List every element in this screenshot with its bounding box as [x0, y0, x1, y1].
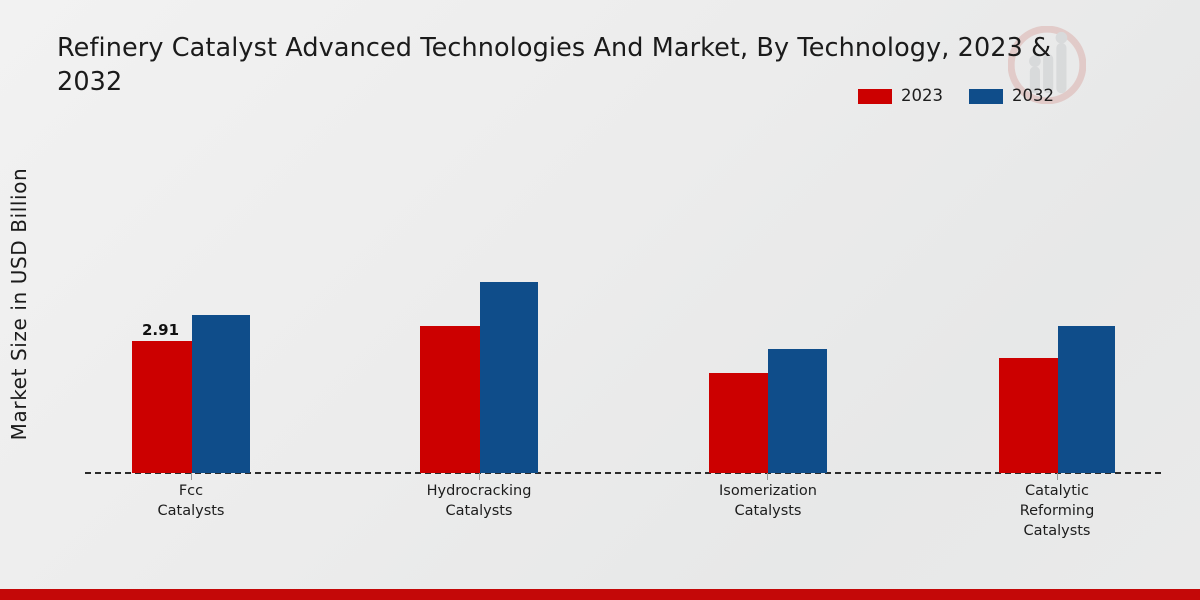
bar-hydrocracking-2032[interactable]: [480, 282, 538, 473]
bar-fcc-2023[interactable]: [132, 341, 192, 473]
bar-fcc-2032[interactable]: [192, 315, 250, 473]
x-label-hydrocracking-catalysts: Hydrocracking Catalysts: [379, 481, 579, 521]
x-label-catalytic-reforming-catalysts: Catalytic Reforming Catalysts: [957, 481, 1157, 541]
x-label-isomerization-catalysts: Isomerization Catalysts: [668, 481, 868, 521]
bar-catalytic-reforming-2032[interactable]: [1058, 326, 1115, 473]
plot-area: 2.91 Fcc Catalysts Hydrocracking Catalys…: [0, 0, 1200, 600]
x-label-fcc-catalysts: Fcc Catalysts: [91, 481, 291, 521]
bar-catalytic-reforming-2023[interactable]: [999, 358, 1058, 473]
x-tick-catalytic-reforming: [1057, 473, 1058, 480]
bar-value-fcc-2023: 2.91: [142, 321, 179, 339]
bar-hydrocracking-2023[interactable]: [420, 326, 480, 473]
bar-isomerization-2032[interactable]: [768, 349, 827, 473]
x-tick-fcc: [191, 473, 192, 480]
footer-accent-bar: [0, 589, 1200, 600]
x-tick-hydrocracking: [479, 473, 480, 480]
chart-canvas: Refinery Catalyst Advanced Technologies …: [0, 0, 1200, 600]
bar-isomerization-2023[interactable]: [709, 373, 768, 473]
x-tick-isomerization: [767, 473, 768, 480]
